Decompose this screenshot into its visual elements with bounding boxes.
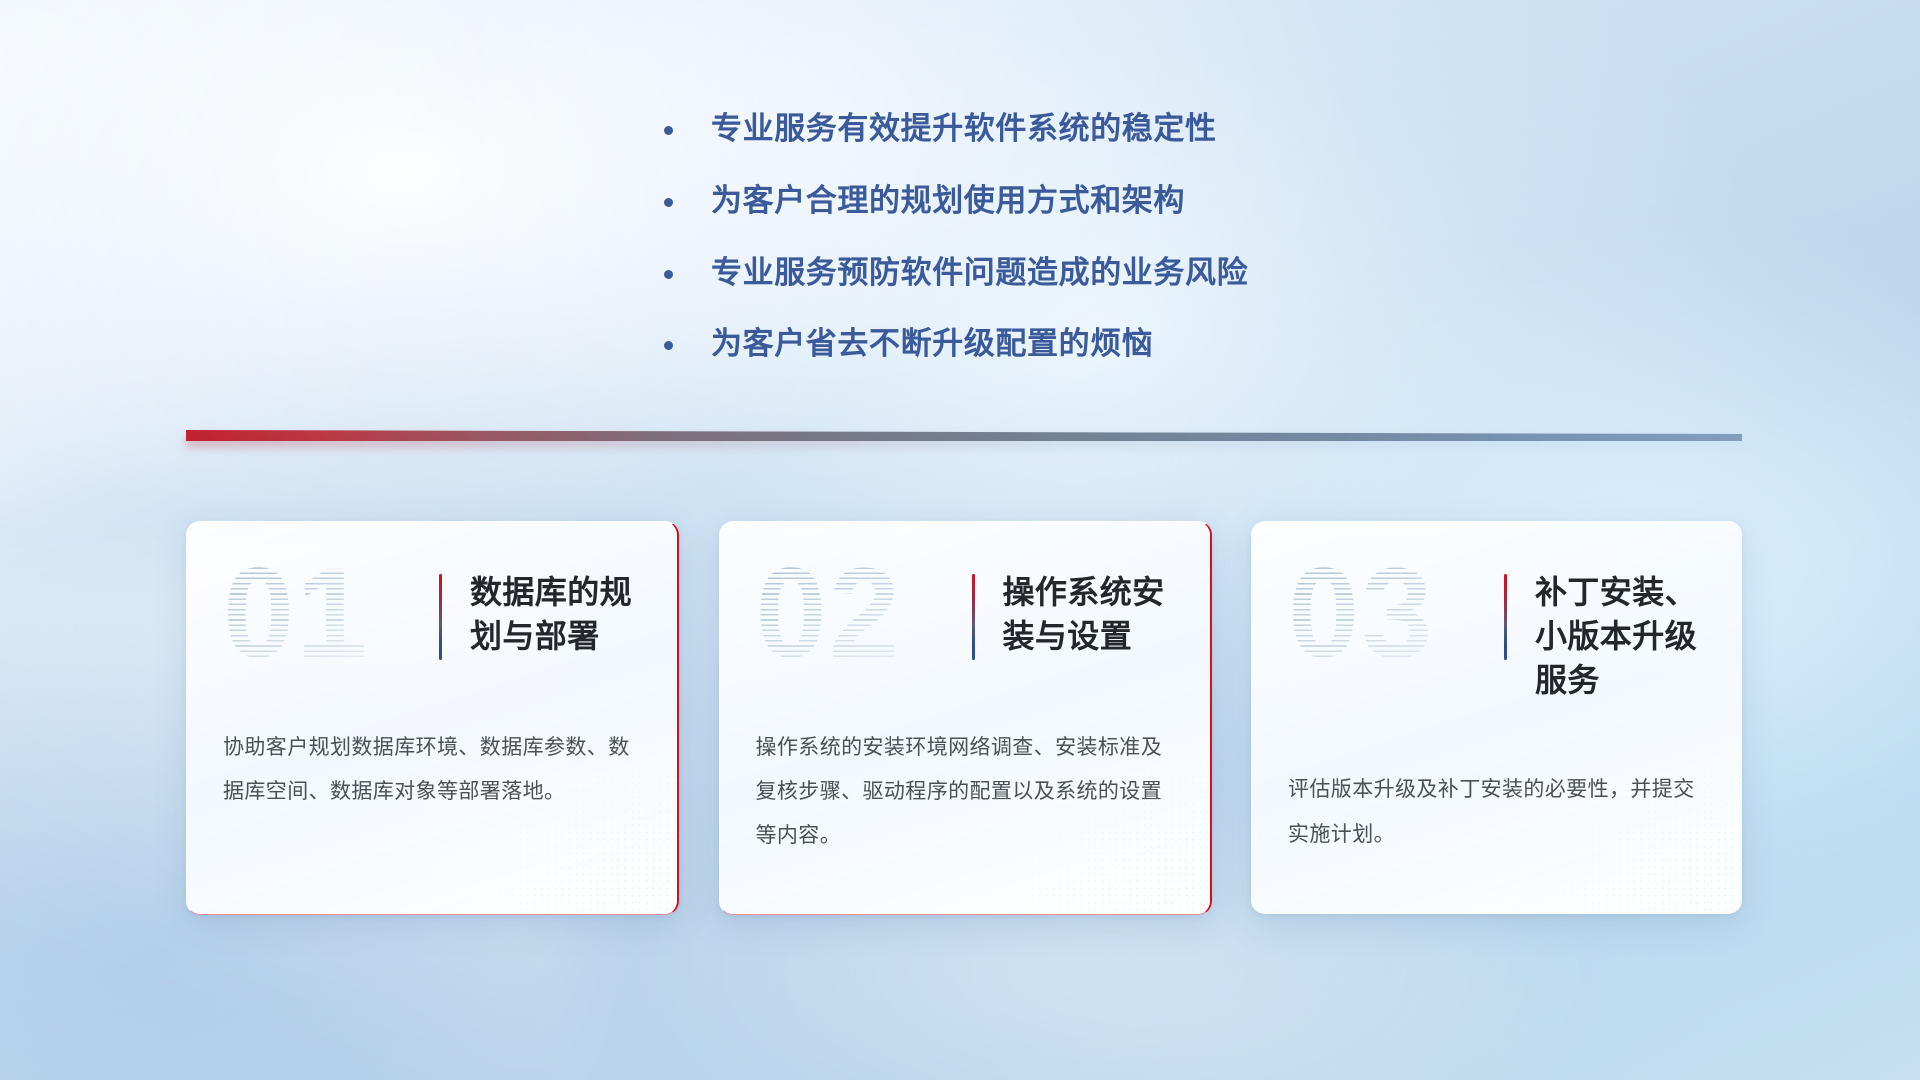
- accent-bar-icon: [972, 574, 975, 660]
- list-item: 专业服务有效提升软件系统的稳定性: [664, 110, 1248, 148]
- service-card-02[interactable]: 02 操作系统安装与设置 操作系统的安装环境网络调查、安装标准及复核步骤、驱动程…: [719, 521, 1212, 915]
- list-item: 为客户省去不断升级配置的烦恼: [664, 325, 1248, 363]
- card-header: 数据库的规划与部署: [439, 522, 677, 660]
- bullet-dot-icon: [664, 198, 673, 207]
- bullet-label: 为客户合理的规划使用方式和架构: [711, 182, 1185, 220]
- benefits-bullet-list: 专业服务有效提升软件系统的稳定性 为客户合理的规划使用方式和架构 专业服务预防软…: [664, 110, 1248, 363]
- service-card-row: 01 数据库的规划与部署 协助客户规划数据库环境、数据库参数、数据库空间、数据库…: [186, 521, 1742, 921]
- accent-bar-icon: [439, 574, 442, 660]
- service-card-03[interactable]: 03 补丁安装、小版本升级服务 评估版本升级及补丁安装的必要性，并提交实施计划。: [1251, 521, 1742, 914]
- bullet-dot-icon: [664, 270, 673, 279]
- card-title: 补丁安装、小版本升级服务: [1535, 570, 1708, 702]
- service-card-01[interactable]: 01 数据库的规划与部署 协助客户规划数据库环境、数据库参数、数据库空间、数据库…: [186, 521, 679, 915]
- card-title: 操作系统安装与设置: [1003, 570, 1176, 658]
- card-description: 协助客户规划数据库环境、数据库参数、数据库空间、数据库对象等部署落地。: [223, 726, 643, 814]
- bullet-dot-icon: [664, 341, 673, 350]
- card-description: 评估版本升级及补丁安装的必要性，并提交实施计划。: [1288, 768, 1708, 856]
- slide-canvas: 专业服务有效提升软件系统的稳定性 为客户合理的规划使用方式和架构 专业服务预防软…: [0, 0, 1920, 1080]
- card-header: 补丁安装、小版本升级服务: [1504, 522, 1742, 702]
- bullet-label: 专业服务预防软件问题造成的业务风险: [711, 254, 1248, 292]
- section-divider: [186, 430, 1742, 441]
- card-header: 操作系统安装与设置: [972, 522, 1210, 660]
- divider-line: [186, 430, 1742, 441]
- list-item: 为客户合理的规划使用方式和架构: [664, 182, 1248, 220]
- list-item: 专业服务预防软件问题造成的业务风险: [664, 254, 1248, 292]
- card-description: 操作系统的安装环境网络调查、安装标准及复核步骤、驱动程序的配置以及系统的设置等内…: [756, 726, 1176, 858]
- card-title: 数据库的规划与部署: [470, 570, 643, 658]
- bullet-dot-icon: [664, 126, 673, 135]
- bullet-label: 专业服务有效提升软件系统的稳定性: [711, 110, 1217, 148]
- light-streak-top-left: [0, 0, 674, 530]
- bullet-label: 为客户省去不断升级配置的烦恼: [711, 325, 1153, 363]
- accent-bar-icon: [1504, 574, 1507, 660]
